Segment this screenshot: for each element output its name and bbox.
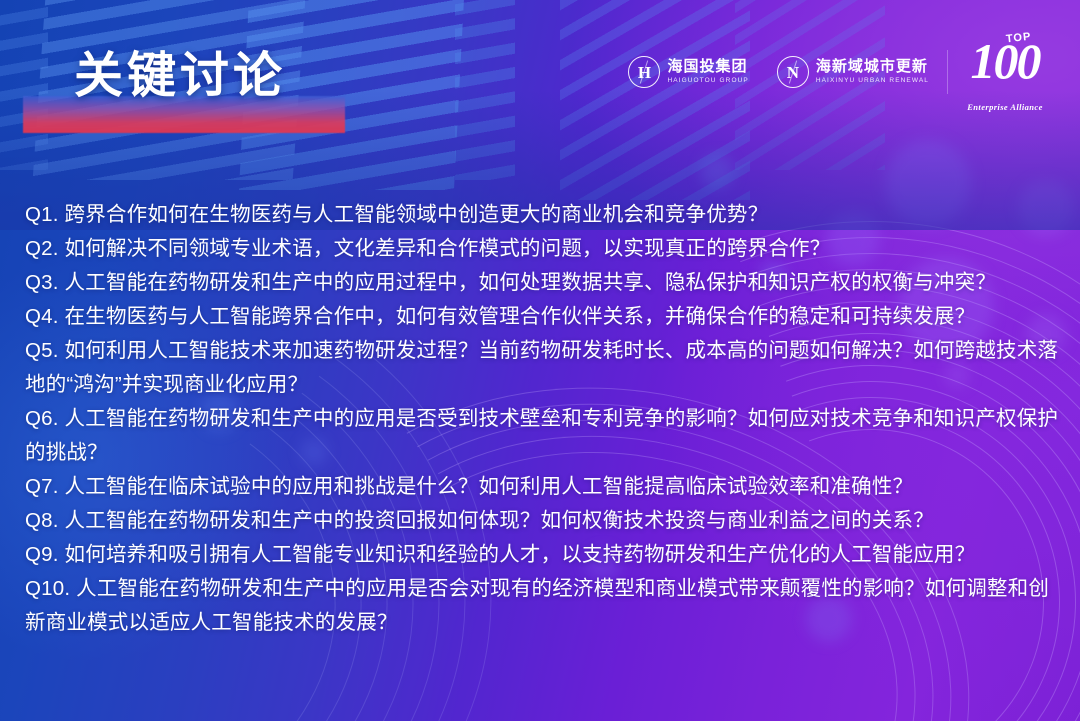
presentation-slide: 关键讨论 H 海国投集团 HAIGUOTOU GROUP N 海新域城市更新 H… [0, 0, 1080, 721]
logo-haiguotou: H 海国投集团 HAIGUOTOU GROUP [614, 56, 762, 88]
logo-haixinyu: N 海新域城市更新 HAIXINYU URBAN RENEWAL [763, 56, 943, 88]
question-item: Q5. 如何利用人工智能技术来加速药物研发过程？当前药物研发耗时长、成本高的问题… [25, 334, 1060, 402]
question-item: Q7. 人工智能在临床试验中的应用和挑战是什么？如何利用人工智能提高临床试验效率… [25, 470, 1060, 504]
page-title: 关键讨论 [74, 52, 286, 101]
question-item: Q3. 人工智能在药物研发和生产中的应用过程中，如何处理数据共享、隐私保护和知识… [25, 266, 1060, 300]
top100-subtitle: Enterprise Alliance [952, 102, 1058, 112]
logo-top100-award: 100 TOP Enterprise Alliance [952, 26, 1066, 118]
question-list: Q1. 跨界合作如何在生物医药与人工智能领域中创造更大的商业机会和竞争优势？ Q… [25, 198, 1060, 640]
logo-haiguotou-name-cn: 海国投集团 [667, 59, 748, 76]
bokeh-circle [700, 155, 734, 189]
top100-number: 100 [952, 36, 1058, 86]
logo-haixinyu-text: 海新域城市更新 HAIXINYU URBAN RENEWAL [816, 59, 929, 86]
question-item: Q8. 人工智能在药物研发和生产中的投资回报如何体现？如何权衡技术投资与商业利益… [25, 504, 1060, 538]
question-item: Q9. 如何培养和吸引拥有人工智能专业知识和经验的人才，以支持药物研发和生产优化… [25, 538, 1060, 572]
slide-header: 关键讨论 H 海国投集团 HAIGUOTOU GROUP N 海新域城市更新 H… [0, 0, 1080, 140]
logo-group: H 海国投集团 HAIGUOTOU GROUP N 海新域城市更新 HAIXIN… [614, 26, 1066, 118]
logo-haiguotou-text: 海国投集团 HAIGUOTOU GROUP [667, 59, 748, 86]
logo-haixinyu-name-en: HAIXINYU URBAN RENEWAL [816, 77, 929, 85]
logo-haiguotou-name-en: HAIGUOTOU GROUP [667, 77, 748, 85]
question-item: Q4. 在生物医药与人工智能跨界合作中，如何有效管理合作伙伴关系，并确保合作的稳… [25, 300, 1060, 334]
logo-haixinyu-name-cn: 海新域城市更新 [816, 59, 929, 76]
logo-divider [947, 50, 948, 94]
question-item: Q1. 跨界合作如何在生物医药与人工智能领域中创造更大的商业机会和竞争优势？ [25, 198, 1060, 232]
question-item: Q2. 如何解决不同领域专业术语，文化差异和合作模式的问题，以实现真正的跨界合作… [25, 232, 1060, 266]
question-item: Q10. 人工智能在药物研发和生产中的应用是否会对现有的经济模型和商业模式带来颠… [25, 572, 1060, 640]
circle-h-emblem-icon: H [628, 56, 660, 88]
circle-n-emblem-icon: N [777, 56, 809, 88]
question-item: Q6. 人工智能在药物研发和生产中的应用是否受到技术壁垒和专利竞争的影响？如何应… [25, 402, 1060, 470]
